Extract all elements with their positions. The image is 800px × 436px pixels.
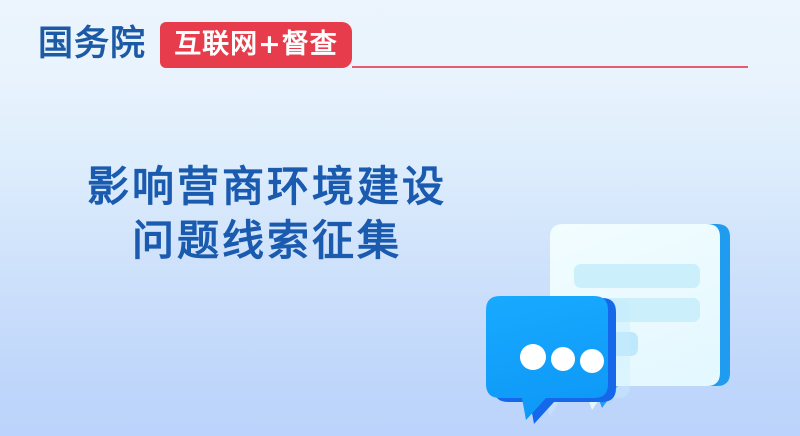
chat-bubbles-svg — [470, 210, 800, 436]
title-line-primary: 影响营商环境建设 — [0, 160, 520, 214]
gov-logo-text: 国务院 — [38, 24, 146, 64]
chat-bubbles-illustration — [470, 210, 800, 436]
header-divider-rule — [352, 66, 748, 68]
banner-root: 国务院 互联网+督查 影响营商环境建设 问题线索征集 — [0, 0, 800, 436]
page-title: 影响营商环境建设 问题线索征集 — [0, 160, 520, 268]
banner-header: 国务院 互联网+督查 — [0, 0, 800, 92]
title-line-secondary: 问题线索征集 — [0, 214, 520, 268]
brand-badge-label: 互联网+督查 — [160, 22, 352, 68]
brand-badge: 互联网+督查 — [160, 22, 352, 68]
